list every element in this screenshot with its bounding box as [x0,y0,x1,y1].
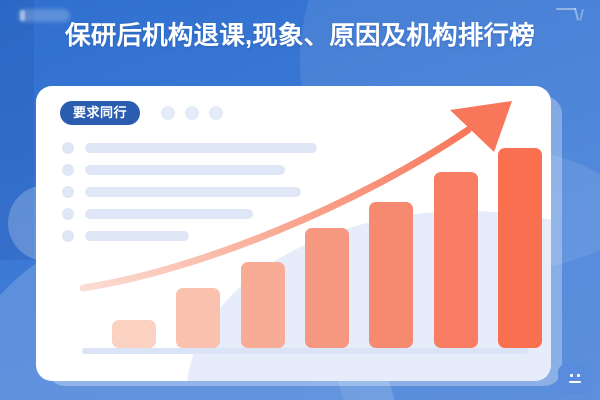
face-glyph [568,373,582,385]
chart-bar [305,228,349,348]
face-mouth [569,381,581,383]
bullet-icon [62,186,74,198]
chart-bar [498,148,542,348]
bar-chart [102,113,551,348]
corner-bracket-horizontal [556,8,576,10]
top-left-blob-decoration [18,9,70,22]
poster-root: 保研后机构退课,现象、原因及机构排行榜 要求同行 [0,0,600,400]
bullet-icon [62,142,74,154]
chart-baseline [82,348,529,354]
page-title: 保研后机构退课,现象、原因及机构排行榜 [0,22,600,51]
corner-bracket-stroke-right [579,9,584,21]
chart-bar [112,320,156,348]
top-left-blob-dot-decoration [20,10,25,21]
chart-bar [176,288,220,348]
bullet-icon [62,164,74,176]
content-card: 要求同行 [36,86,551,381]
face-eye-left [570,374,573,377]
face-chip-icon[interactable] [558,364,592,394]
chart-bar [241,262,285,348]
chart-bar [369,202,413,348]
face-eye-right [577,374,580,377]
chart-bar [434,172,478,348]
bullet-icon [62,208,74,220]
bullet-icon [62,230,74,242]
